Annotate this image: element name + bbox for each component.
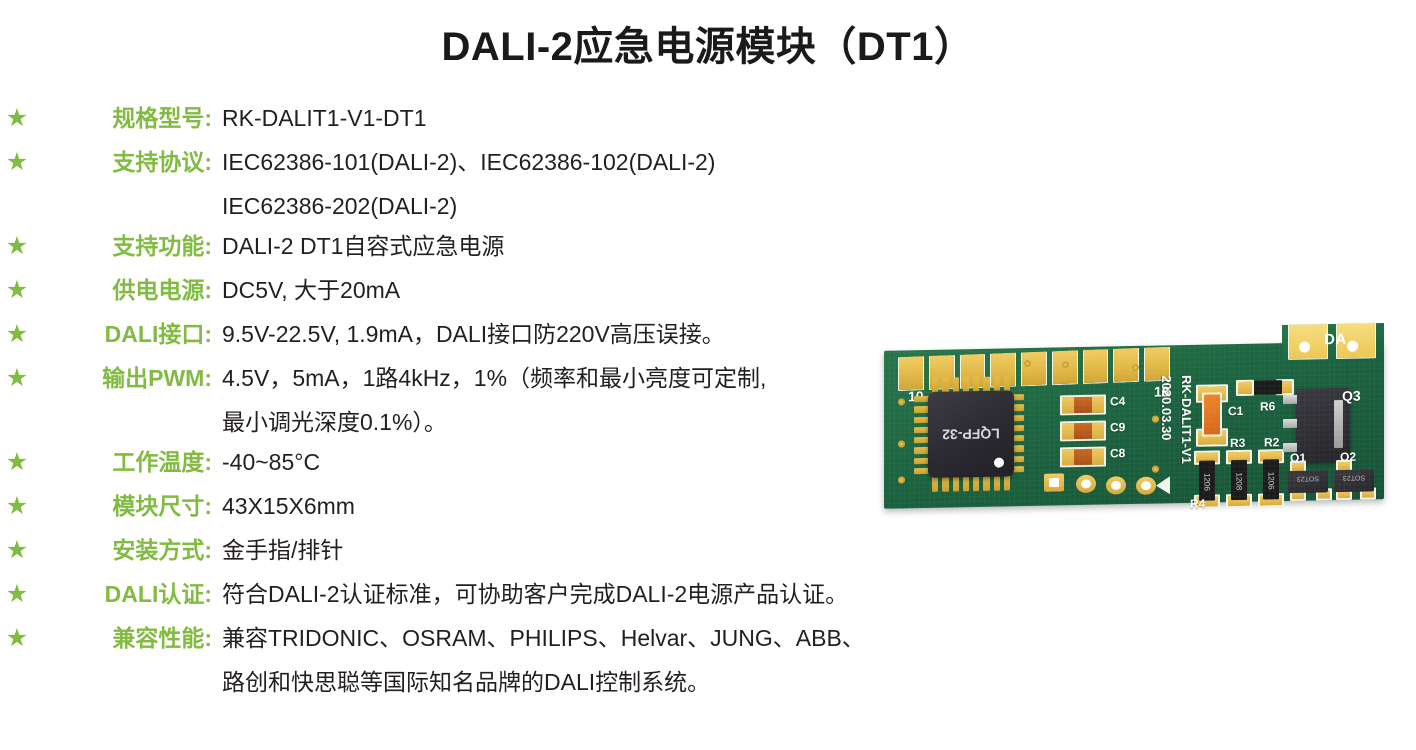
spec-row: ★支持协议:IEC62386-101(DALI-2)、IEC62386-102(… bbox=[0, 144, 980, 188]
spec-row: ★输出PWM:4.5V，5mA，1路4kHz，1%（频率和最小亮度可定制, bbox=[0, 360, 980, 404]
spec-value: 43X15X6mm bbox=[212, 488, 355, 524]
capacitor-c9 bbox=[1060, 421, 1106, 442]
star-icon: ★ bbox=[0, 360, 34, 395]
chip-marking-label: LQFP-32 bbox=[942, 426, 1000, 443]
silk-r3: R3 bbox=[1230, 436, 1245, 450]
spec-label: 供电电源: bbox=[34, 272, 212, 308]
through-hole-pad-2 bbox=[1076, 475, 1096, 493]
spec-row: ★工作温度:-40~85°C bbox=[0, 444, 980, 488]
chip-pin1-dot bbox=[994, 457, 1004, 467]
spec-row: ★DALI接口:9.5V-22.5V, 1.9mA，DALI接口防220V高压误… bbox=[0, 316, 980, 360]
silk-c1: C1 bbox=[1228, 404, 1243, 418]
star-icon: ★ bbox=[0, 144, 34, 179]
page-title: DALI-2应急电源模块（DT1） bbox=[0, 14, 1416, 72]
pcb-substrate: 10 18 LQFP-32 C4 C9 C8 bbox=[884, 341, 1384, 509]
spec-row: ★安装方式:金手指/排针 bbox=[0, 532, 980, 576]
spec-label: 模块尺寸: bbox=[34, 488, 212, 524]
silk-c9: C9 bbox=[1110, 420, 1125, 434]
spec-label: 输出PWM: bbox=[34, 360, 212, 396]
pcb-product-image: 10 18 LQFP-32 C4 C9 C8 bbox=[884, 318, 1406, 523]
capacitor-c1 bbox=[1202, 392, 1222, 436]
polarity-triangle-marker bbox=[1156, 476, 1170, 494]
silk-c8: C8 bbox=[1110, 446, 1125, 460]
resistor-r4: 1206 bbox=[1199, 460, 1215, 500]
spec-label: DALI接口: bbox=[34, 316, 212, 352]
spec-value-line: 最小调光深度0.1%）。 bbox=[212, 404, 447, 440]
spec-value-continuation: 最小调光深度0.1%）。 bbox=[0, 404, 980, 444]
gold-finger-pad bbox=[898, 356, 924, 391]
spec-row: ★模块尺寸:43X15X6mm bbox=[0, 488, 980, 532]
star-icon: ★ bbox=[0, 532, 34, 567]
spec-label: 安装方式: bbox=[34, 532, 212, 568]
spec-value: 兼容TRIDONIC、OSRAM、PHILIPS、Helvar、JUNG、ABB… bbox=[212, 620, 865, 656]
resistor-r4-code: 1206 bbox=[1203, 473, 1212, 489]
star-icon: ★ bbox=[0, 228, 34, 263]
spec-row: ★支持功能:DALI-2 DT1自容式应急电源 bbox=[0, 228, 980, 272]
spec-label: 工作温度: bbox=[34, 444, 212, 480]
star-icon: ★ bbox=[0, 444, 34, 479]
through-hole-pad-3 bbox=[1106, 476, 1126, 494]
silk-r6: R6 bbox=[1260, 399, 1275, 413]
spec-row: ★DALI认证:符合DALI-2认证标准，可协助客户完成DALI-2电源产品认证… bbox=[0, 576, 980, 620]
spec-value-line: IEC62386-202(DALI-2) bbox=[212, 188, 457, 224]
transistor-q2: SOT23 bbox=[1334, 469, 1374, 492]
gold-finger-pad bbox=[1021, 351, 1047, 386]
spec-value: DC5V, 大于20mA bbox=[212, 272, 400, 308]
smd-capacitor-group bbox=[1060, 395, 1106, 474]
silk-board-marking: RK-DALIT1-V1 bbox=[1179, 375, 1194, 464]
specification-list: ★规格型号:RK-DALIT1-V1-DT1★支持协议:IEC62386-101… bbox=[0, 100, 980, 704]
lqfp32-microcontroller: LQFP-32 bbox=[928, 390, 1014, 478]
spec-value: 金手指/排针 bbox=[212, 532, 343, 568]
spec-value: DALI-2 DT1自容式应急电源 bbox=[212, 228, 504, 264]
da-connector: DA bbox=[1288, 322, 1380, 360]
spec-value: 9.5V-22.5V, 1.9mA，DALI接口防220V高压误接。 bbox=[212, 316, 725, 352]
star-icon: ★ bbox=[0, 272, 34, 307]
spec-label: 规格型号: bbox=[34, 100, 212, 136]
spec-value: RK-DALIT1-V1-DT1 bbox=[212, 100, 426, 136]
silk-q3: Q3 bbox=[1342, 388, 1361, 404]
da-pad-left bbox=[1288, 323, 1328, 360]
spec-label: 兼容性能: bbox=[34, 620, 212, 656]
spec-row: ★供电电源:DC5V, 大于20mA bbox=[0, 272, 980, 316]
gold-finger-pad bbox=[1083, 349, 1109, 384]
spec-value-continuation: 路创和快思聪等国际知名品牌的DALI控制系统。 bbox=[0, 664, 980, 704]
resistor-r2-code: 1206 bbox=[1267, 472, 1276, 488]
spec-label: 支持功能: bbox=[34, 228, 212, 264]
star-icon: ★ bbox=[0, 100, 34, 135]
spec-value: -40~85°C bbox=[212, 444, 320, 480]
resistor-r3: 1208 bbox=[1231, 460, 1247, 500]
spec-value: 符合DALI-2认证标准，可协助客户完成DALI-2电源产品认证。 bbox=[212, 576, 848, 612]
capacitor-c8 bbox=[1060, 447, 1106, 468]
transistor-q1: SOT23 bbox=[1288, 470, 1328, 493]
through-hole-pad-4 bbox=[1136, 477, 1156, 495]
silk-c4: C4 bbox=[1110, 394, 1125, 408]
spec-row: ★规格型号:RK-DALIT1-V1-DT1 bbox=[0, 100, 980, 144]
spec-value: 4.5V，5mA，1路4kHz，1%（频率和最小亮度可定制, bbox=[212, 360, 766, 396]
star-icon: ★ bbox=[0, 488, 34, 523]
silk-da-label: DA bbox=[1324, 331, 1347, 348]
through-hole-pad-1 bbox=[1044, 473, 1064, 491]
spec-label: DALI认证: bbox=[34, 576, 212, 612]
spec-row: ★兼容性能:兼容TRIDONIC、OSRAM、PHILIPS、Helvar、JU… bbox=[0, 620, 980, 664]
resistor-r3-code: 1208 bbox=[1235, 472, 1244, 488]
resistor-r2: 1206 bbox=[1263, 459, 1279, 499]
capacitor-c4 bbox=[1060, 395, 1106, 416]
spec-label: 支持协议: bbox=[34, 144, 212, 180]
spec-value-line: 路创和快思聪等国际知名品牌的DALI控制系统。 bbox=[212, 664, 710, 700]
silk-r4: R4 bbox=[1190, 497, 1205, 511]
silk-board-date: 2020.03.30 bbox=[1159, 375, 1174, 440]
star-icon: ★ bbox=[0, 316, 34, 351]
spec-value: IEC62386-101(DALI-2)、IEC62386-102(DALI-2… bbox=[212, 144, 715, 180]
star-icon: ★ bbox=[0, 576, 34, 611]
spec-value-continuation: IEC62386-202(DALI-2) bbox=[0, 188, 980, 228]
silk-r2: R2 bbox=[1264, 435, 1279, 449]
star-icon: ★ bbox=[0, 620, 34, 655]
